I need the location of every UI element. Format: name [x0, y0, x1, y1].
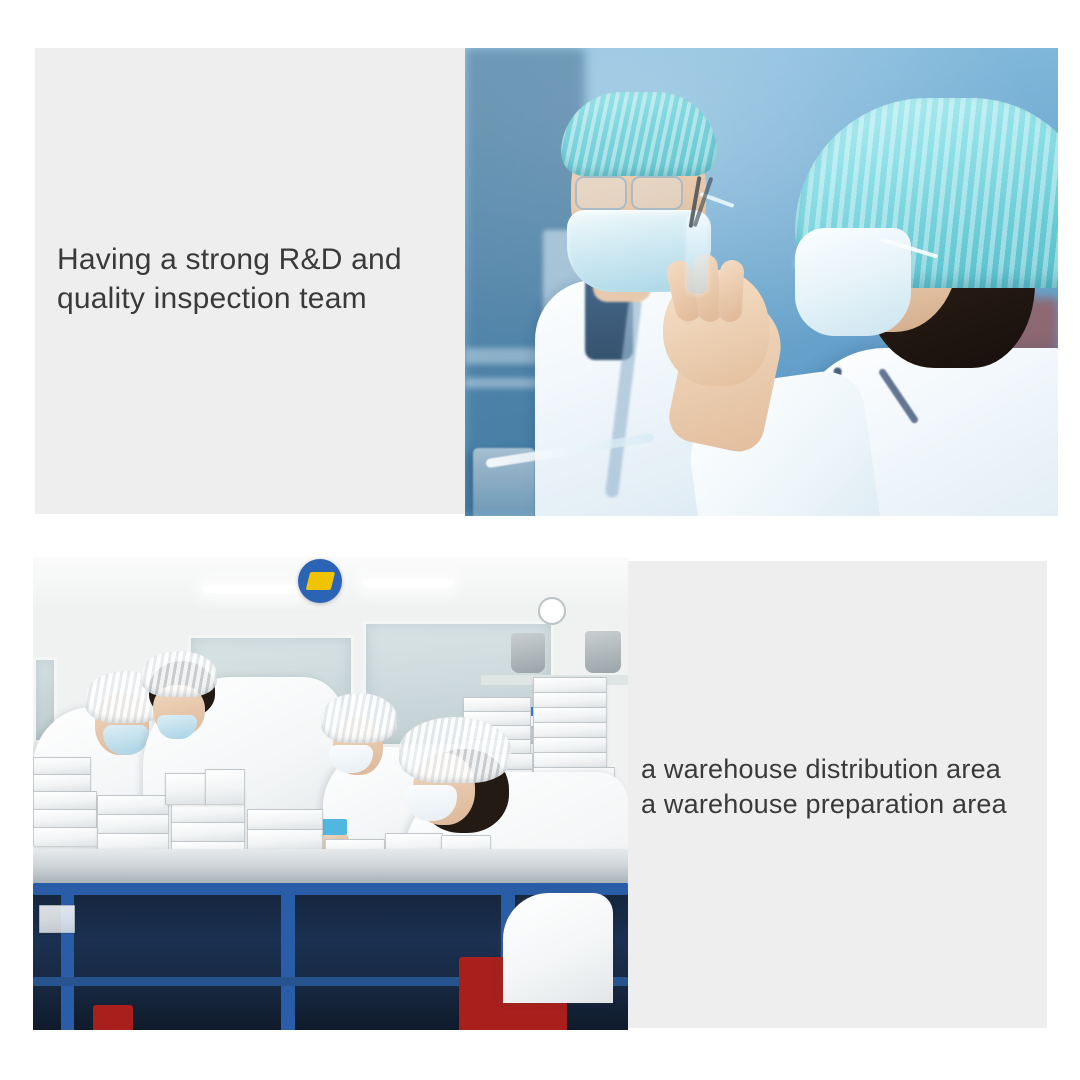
loose-carton: [39, 905, 75, 933]
rd-quality-caption: Having a strong R&D and quality inspecti…: [57, 240, 457, 318]
steel-pot-2: [585, 631, 621, 673]
technician-1-glasses-left: [575, 176, 627, 210]
warehouse-caption: a warehouse distribution area a warehous…: [641, 752, 1051, 822]
steel-pot-1: [511, 633, 545, 673]
packer-3-hairnet: [321, 693, 397, 743]
technician-1-glasses-right: [631, 176, 683, 210]
packer-4-lower-coat: [503, 893, 613, 1003]
warning-sign-icon: [298, 559, 342, 603]
ceiling-light-2: [363, 579, 453, 587]
packer-2-hairnet: [141, 651, 217, 697]
page-canvas: Having a strong R&D and quality inspecti…: [0, 0, 1080, 1080]
rd-quality-photo: [465, 48, 1058, 516]
finger-3: [717, 259, 744, 322]
packer-4-hairnet: [399, 717, 511, 783]
technician-1-hairnet: [561, 92, 717, 176]
table-leg-2: [281, 887, 295, 1030]
red-equipment-2: [93, 1005, 133, 1030]
wall-clock: [538, 597, 566, 625]
warehouse-photo: [33, 557, 628, 1030]
blue-label-strip: [321, 819, 347, 835]
